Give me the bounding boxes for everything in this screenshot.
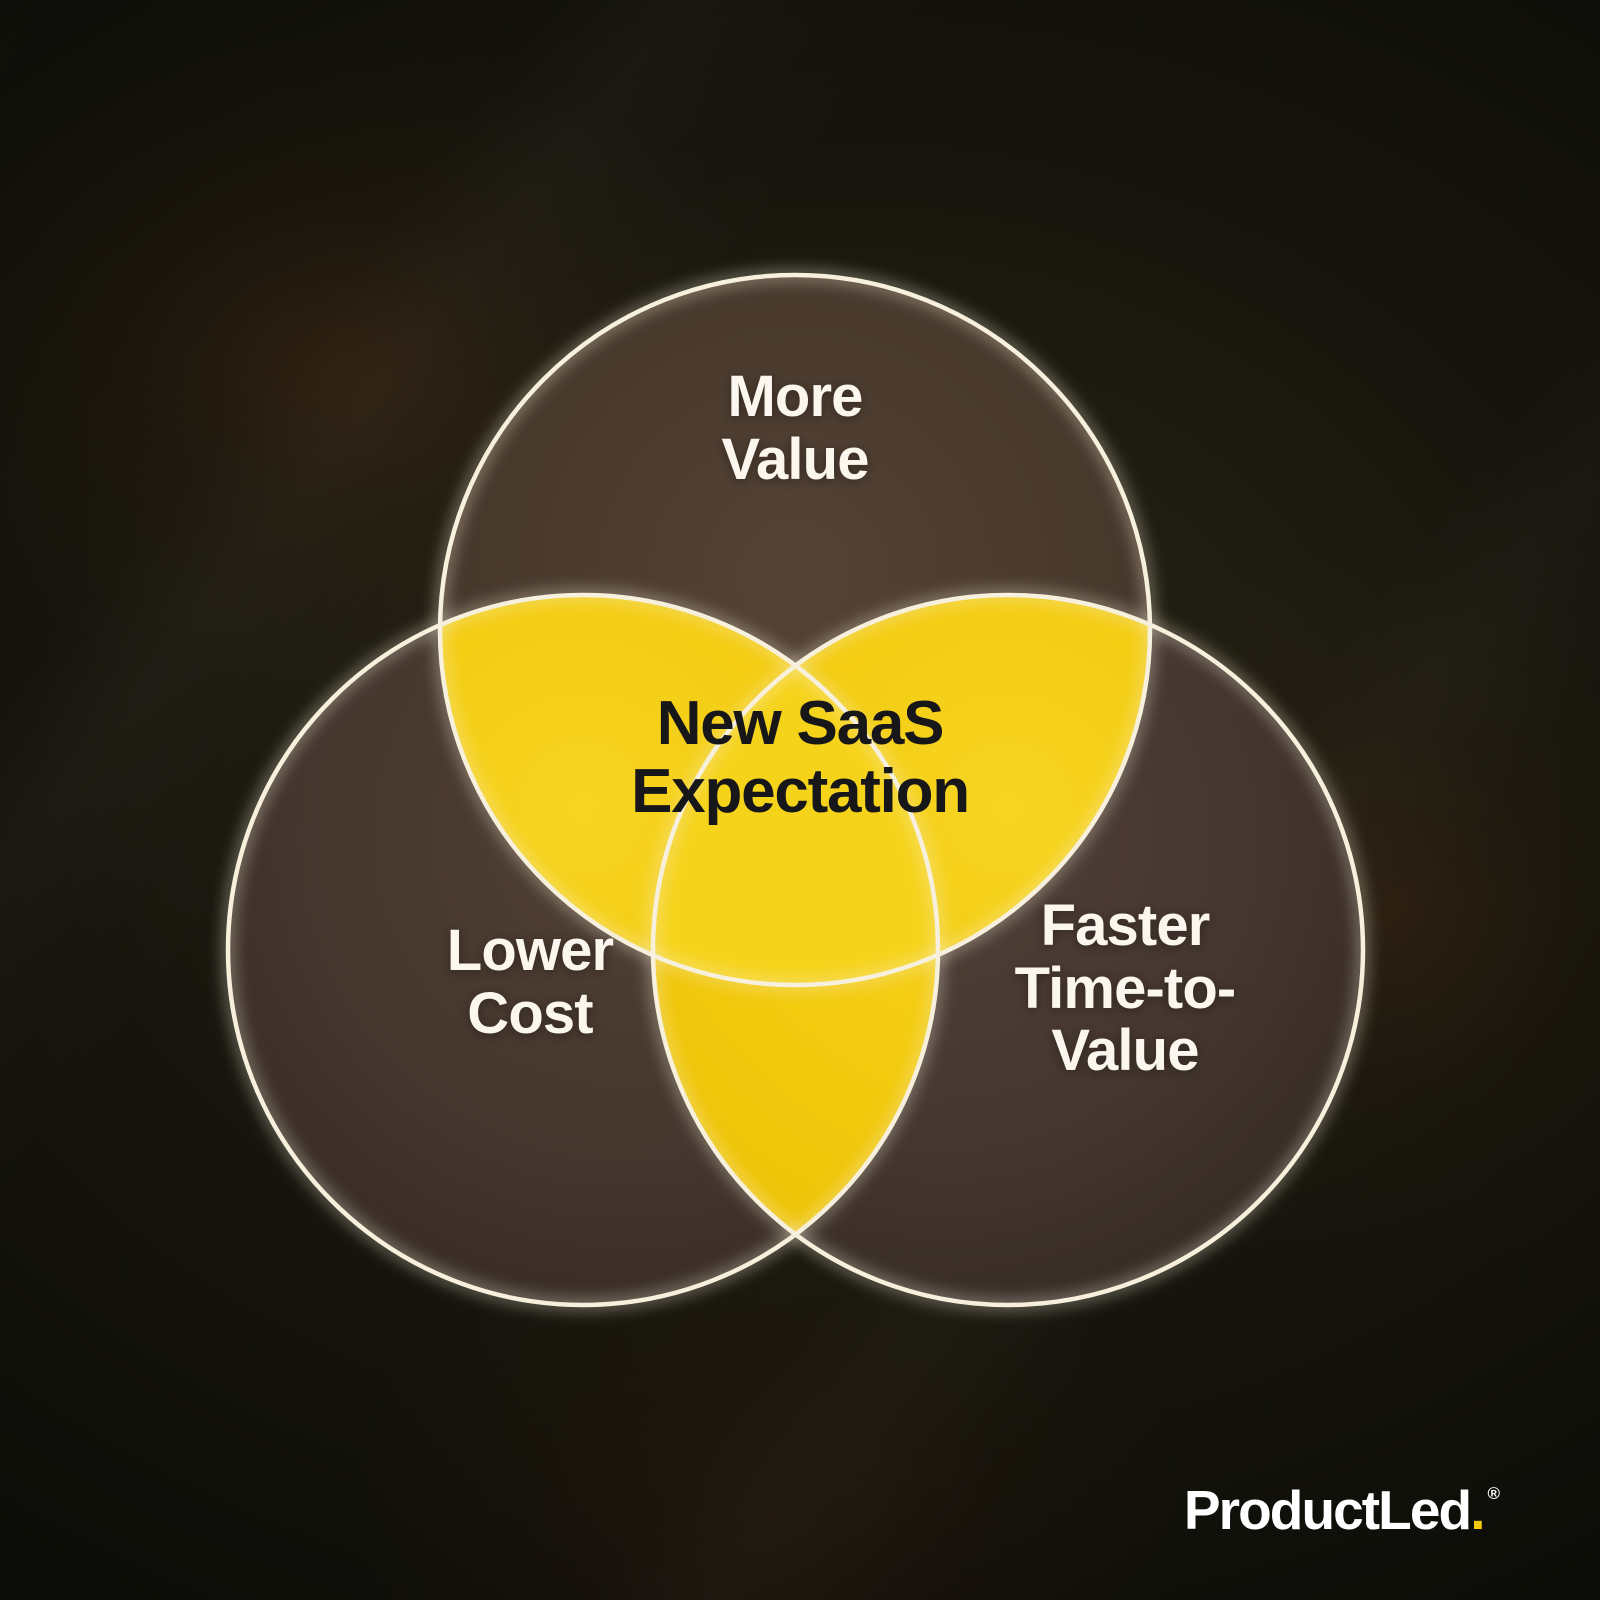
venn-diagram-canvas: More Value Lower Cost Faster Time-to- Va… xyxy=(0,0,1600,1600)
venn-circles-graphic xyxy=(0,0,1600,1600)
